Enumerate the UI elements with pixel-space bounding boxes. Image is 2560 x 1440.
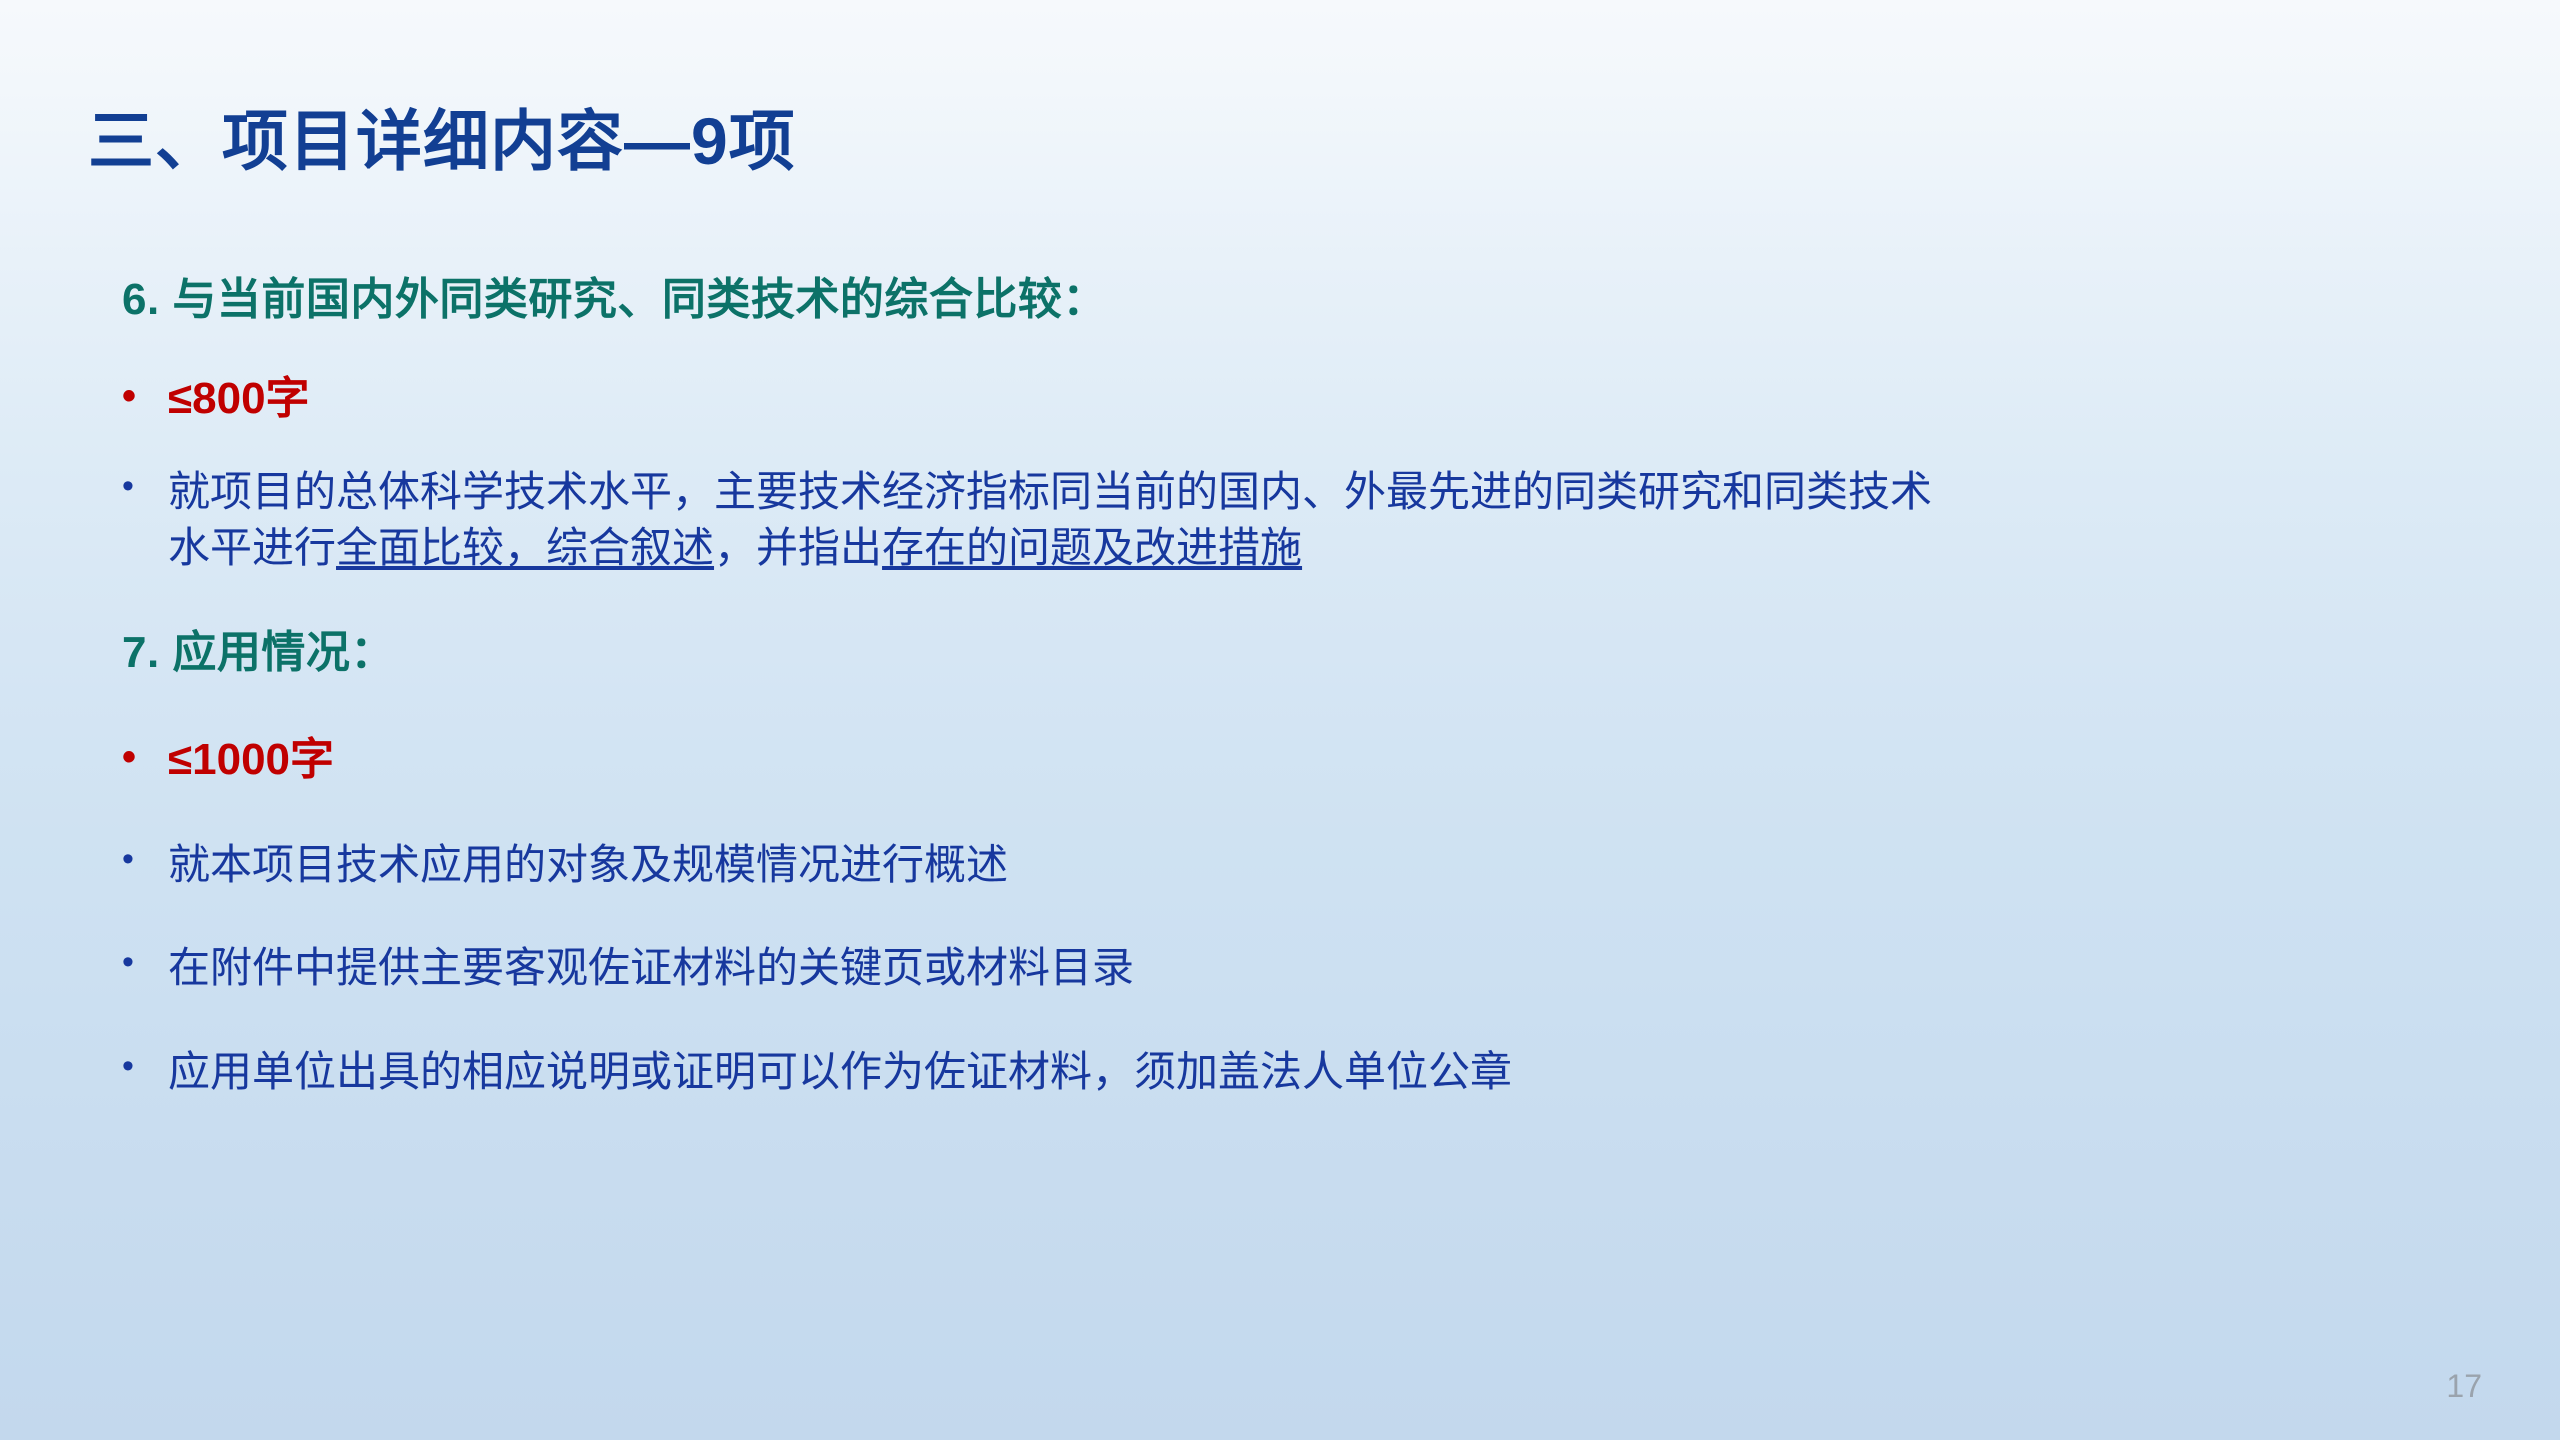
bullet-marker-icon: • [122, 1044, 168, 1089]
bullet-item-word-limit-1000: • ≤1000字 [122, 731, 2502, 789]
page-title: 三、项目详细内容—9项 [88, 108, 796, 174]
bullet-item-comparison-description: • 就项目的总体科学技术水平，主要技术经济指标同当前的国内、外最先进的同类研究和… [122, 464, 2502, 575]
bullet-text: 在附件中提供主要客观佐证材料的关键页或材料目录 [168, 940, 2502, 995]
bullet-text: ≤800字 [168, 370, 2502, 428]
bullet-marker-icon: • [122, 940, 168, 985]
bullet-marker-icon: • [122, 464, 168, 509]
bullet-item-application-scope: • 就本项目技术应用的对象及规模情况进行概述 [122, 837, 2502, 892]
bullet-marker-icon: • [122, 731, 168, 784]
bullet-item-attachment-evidence: • 在附件中提供主要客观佐证材料的关键页或材料目录 [122, 940, 2502, 995]
paragraph-line-2-part-b: ，并指出 [714, 524, 882, 571]
paragraph-line-1: 就项目的总体科学技术水平，主要技术经济指标同当前的国内、外最先进的同类研究和同类… [168, 468, 1932, 515]
bullet-text: 就项目的总体科学技术水平，主要技术经济指标同当前的国内、外最先进的同类研究和同类… [168, 464, 2502, 575]
bullet-text: 就本项目技术应用的对象及规模情况进行概述 [168, 837, 2502, 892]
paragraph-line-2-part-a: 水平进行 [168, 524, 336, 571]
bullet-item-word-limit-800: • ≤800字 [122, 370, 2502, 428]
bullet-text: 应用单位出具的相应说明或证明可以作为佐证材料，须加盖法人单位公章 [168, 1044, 2502, 1099]
slide-canvas: 三、项目详细内容—9项 6. 与当前国内外同类研究、同类技术的综合比较： • ≤… [0, 0, 2560, 1440]
bullet-text: ≤1000字 [168, 731, 2502, 789]
paragraph-line-2-underline-a: 全面比较，综合叙述 [336, 524, 714, 571]
bullet-marker-icon: • [122, 837, 168, 882]
paragraph-line-2-underline-b: 存在的问题及改进措施 [882, 524, 1302, 571]
section-heading-6: 6. 与当前国内外同类研究、同类技术的综合比较： [122, 278, 2502, 322]
slide-content: 6. 与当前国内外同类研究、同类技术的综合比较： • ≤800字 • 就项目的总… [122, 278, 2502, 1099]
section-heading-7: 7. 应用情况： [122, 631, 2502, 675]
bullet-marker-icon: • [122, 370, 168, 423]
bullet-item-official-seal: • 应用单位出具的相应说明或证明可以作为佐证材料，须加盖法人单位公章 [122, 1044, 2502, 1099]
page-number: 17 [2446, 1370, 2482, 1402]
